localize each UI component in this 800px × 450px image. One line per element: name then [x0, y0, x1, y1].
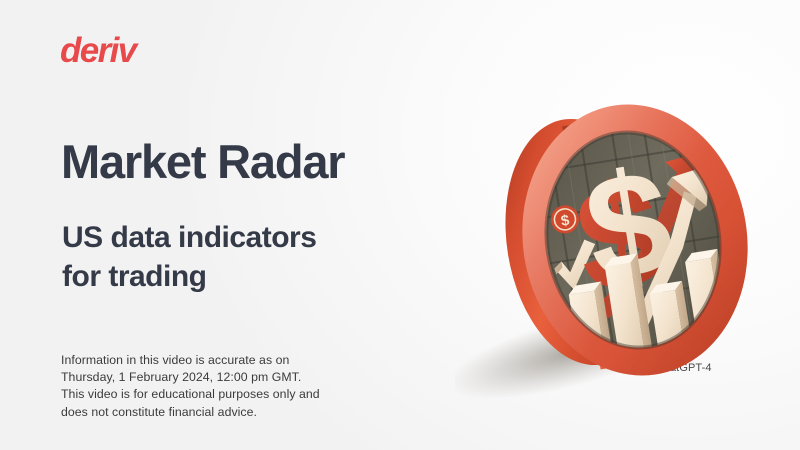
disclaimer-line-1: Information in this video is accurate as… — [61, 352, 320, 369]
slide-canvas: deriv Market Radar US data indicators fo… — [0, 0, 800, 450]
disclaimer-line-3: This video is for educational purposes o… — [61, 386, 320, 403]
subtitle-line-1: US data indicators — [62, 218, 316, 258]
subtitle-line-2: for trading — [62, 257, 316, 297]
page-title: Market Radar — [61, 138, 344, 187]
deriv-logo: deriv — [60, 33, 136, 68]
coin-illustration: $ $ $ — [455, 80, 775, 400]
disclaimer-line-4: does not constitute financial advice. — [61, 404, 320, 421]
disclaimer-text: Information in this video is accurate as… — [61, 352, 320, 421]
disclaimer-line-2: Thursday, 1 February 2024, 12:00 pm GMT. — [61, 369, 320, 386]
page-subtitle: US data indicators for trading — [62, 218, 316, 297]
